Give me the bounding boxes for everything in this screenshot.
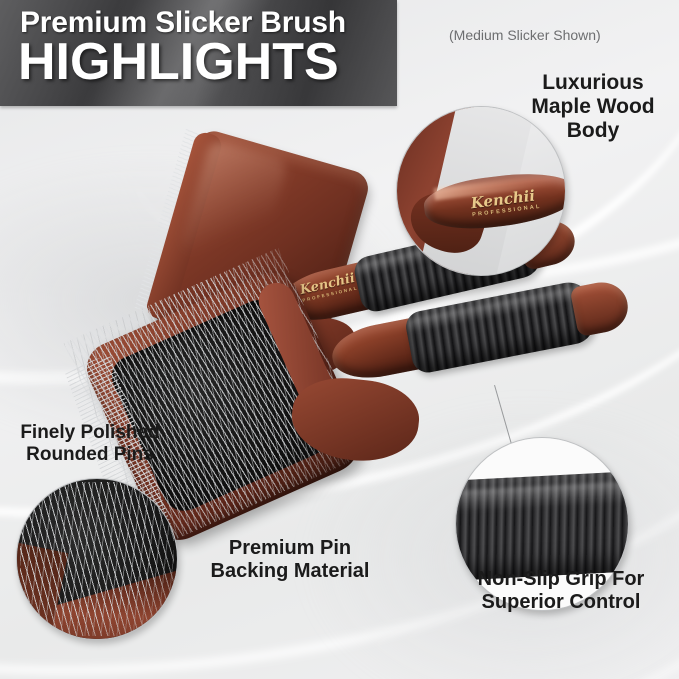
callout-grip-line-1: Non-Slip Grip For xyxy=(447,568,675,591)
callout-wood-label: Luxurious Maple Wood Body xyxy=(518,71,668,143)
callout-backing-label: Premium Pin Backing Material xyxy=(186,537,394,583)
callout-pins-line-1: Finely Polished xyxy=(8,422,172,444)
callout-wood-line-2: Maple Wood xyxy=(518,95,668,119)
header-title: HIGHLIGHTS xyxy=(18,36,339,88)
magnifier-pins-content xyxy=(17,479,177,639)
callout-pins-label: Finely Polished Rounded Pins xyxy=(8,422,172,465)
callout-wood-line-3: Body xyxy=(518,119,668,143)
callout-backing-line-1: Premium Pin xyxy=(186,537,394,560)
callout-pins-line-2: Rounded Pins xyxy=(8,444,172,466)
callout-grip-label: Non-Slip Grip For Superior Control xyxy=(447,568,675,614)
magnifier-pins-steel-pins xyxy=(20,482,174,636)
magnifier-pins-detail xyxy=(16,478,178,640)
callout-backing-line-2: Backing Material xyxy=(186,560,394,583)
infographic-canvas: Kenchii PROFESSIONAL Kenchii PROFESSION xyxy=(0,0,679,679)
callout-wood-line-1: Luxurious xyxy=(518,71,668,95)
handle-front-wood-cap xyxy=(570,278,632,337)
callout-grip-line-2: Superior Control xyxy=(447,591,675,614)
header-note: (Medium Slicker Shown) xyxy=(449,27,601,43)
header-banner: Premium Slicker Brush HIGHLIGHTS xyxy=(0,0,397,106)
